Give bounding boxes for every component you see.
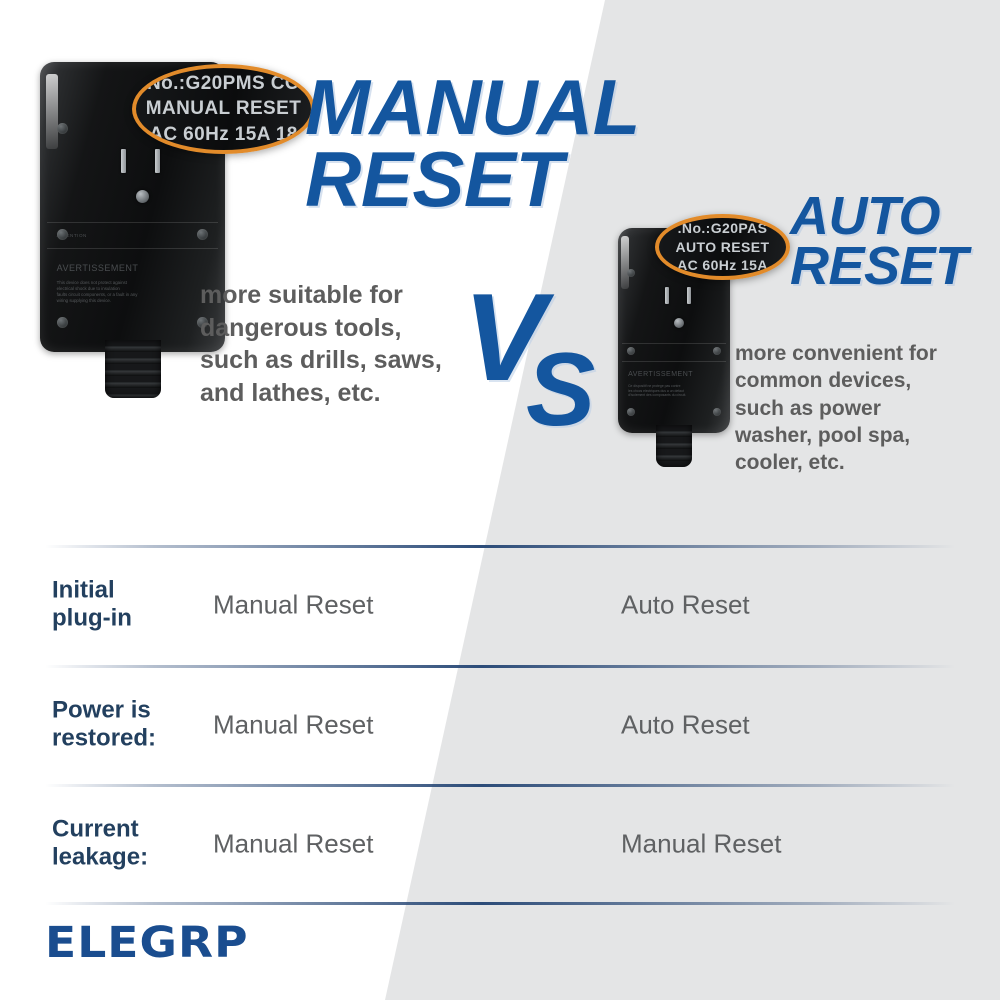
plug-warning-body: Ce dispositif ne protege pas contre les … [628,384,720,398]
plug-cord-grip [105,340,161,398]
callout-line-2: MANUAL RESET [146,96,301,122]
plug-screw-bottom-right [713,408,721,416]
row-value-manual: Manual Reset [213,590,373,621]
row-value-auto: Auto Reset [621,710,750,741]
plug-screw-mid-left [57,229,68,240]
plug-warning-fr-title: AVERTISSEMENT [57,262,209,274]
plug-highlight [621,236,629,289]
plug-prong-left [665,287,669,304]
manual-reset-description: more suitable for dangerous tools, such … [200,279,450,409]
row-value-auto: Auto Reset [621,590,750,621]
plug-screw-mid-right [713,347,721,355]
plug-screw-mid-left [627,347,635,355]
plug-screw-top-left [627,269,635,277]
plug-ground-pin [136,190,149,203]
plug-screw-bottom-left [627,408,635,416]
plug-seam-upper [47,222,217,223]
row-value-auto: Manual Reset [621,829,781,860]
callout-line-3: AC 60Hz 15A 18 [149,122,298,148]
table-divider-bottom [45,902,955,905]
versus-badge: V S [463,276,593,446]
plug-warning-en: ATTENTION [57,227,209,246]
row-value-manual: Manual Reset [213,710,373,741]
plug-seam-lower [47,248,217,249]
plug-highlight [46,74,59,149]
callout-line-1: .No.:G20PAS [678,219,768,238]
auto-reset-magnifier-callout: .No.:G20PAS AUTO RESET AC 60Hz 15A [655,214,790,280]
table-row: Power is restored: Manual Reset Auto Res… [0,666,1000,784]
versus-letter-s: S [526,338,595,442]
plug-warning-en-title: ATTENTION [57,233,209,239]
plug-ground-pin [674,318,684,328]
auto-reset-heading: AUTO RESET [790,192,968,291]
plug-prong-left [121,149,126,173]
row-label: Power is restored: [52,697,202,754]
callout-line-1: No.:G20PMS CO [147,71,300,97]
plug-warning-fr: AVERTISSEMENT Ce dispositif ne protege p… [628,365,720,402]
callout-line-2: AUTO RESET [676,238,770,257]
auto-reset-description: more convenient for common devices, such… [735,340,985,476]
plug-prong-right [155,149,160,173]
callout-line-3: AC 60Hz 15A [677,256,768,275]
row-value-manual: Manual Reset [213,829,373,860]
table-row: Initial plug-in Manual Reset Auto Reset [0,546,1000,664]
plug-warning-fr-title: AVERTISSEMENT [628,370,720,379]
plug-cord-grip [656,425,692,467]
plug-warning-fr: AVERTISSEMENT This device does not prote… [57,256,209,310]
plug-screw-bottom-left [57,317,68,328]
row-label: Current leakage: [52,816,202,873]
manual-reset-magnifier-callout: No.:G20PMS CO MANUAL RESET AC 60Hz 15A 1… [132,64,315,154]
plug-seam-lower [622,361,725,362]
row-label: Initial plug-in [52,577,202,634]
plug-warning-body: This device does not protect against ele… [57,280,209,304]
plug-screw-top-left [57,123,68,134]
plug-seam-upper [622,343,725,344]
plug-prong-right [687,287,691,304]
manual-reset-heading: MANUAL RESET [305,72,640,216]
infographic-canvas: CAT.No.:G20PMS MANUAL RESET 125VAC 60Hz … [0,0,1000,1000]
table-row: Current leakage: Manual Reset Manual Res… [0,785,1000,903]
brand-logo: ELEGRP [45,918,249,968]
